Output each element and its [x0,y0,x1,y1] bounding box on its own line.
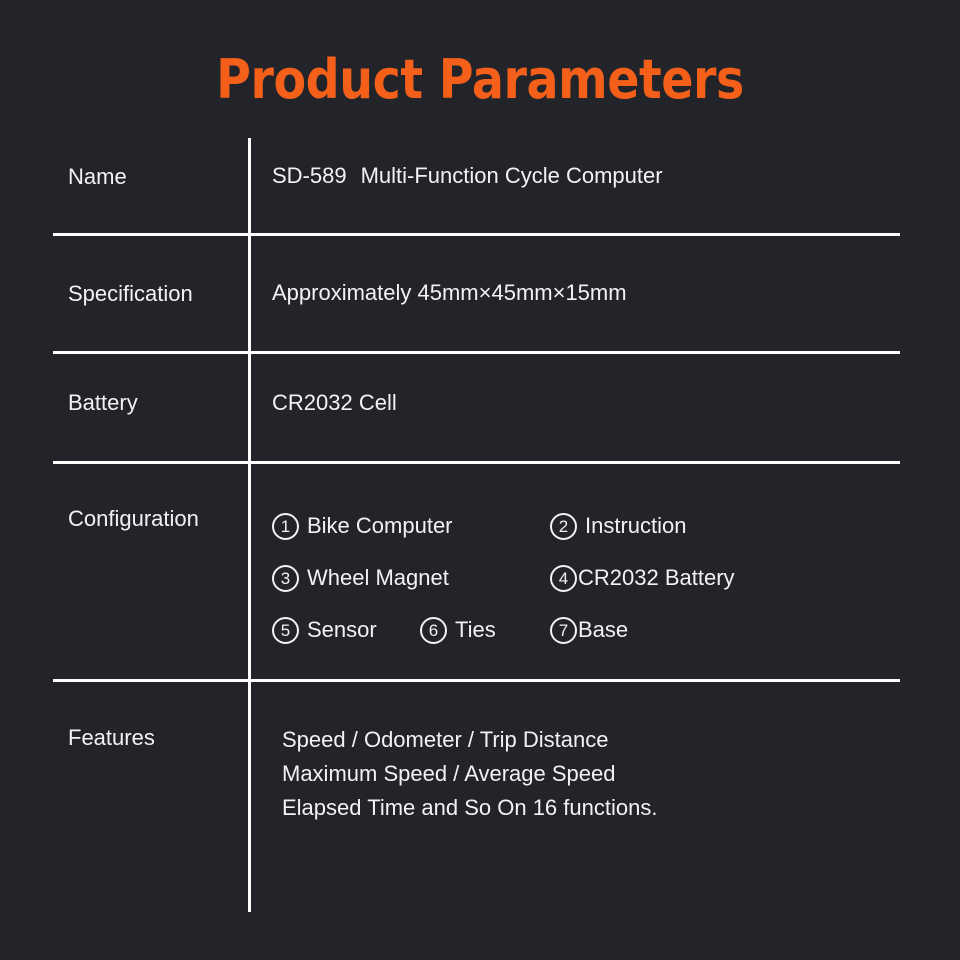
circled-number-icon: 2 [550,513,577,540]
configuration-item-label: Wheel Magnet [307,565,449,591]
configuration-list: 1 Bike Computer 2 Instruction 3 Wheel Ma… [272,500,892,656]
table-vertical-divider [248,138,251,912]
table-row-divider-4 [53,679,900,682]
configuration-item-label: Bike Computer [307,513,453,539]
table-row-divider-2 [53,351,900,354]
features-list: Speed / Odometer / Trip Distance Maximum… [282,723,657,825]
row-value-name: SD-589Multi-Function Cycle Computer [272,163,663,189]
configuration-item-3: 3 Wheel Magnet [272,565,550,592]
circled-number-icon: 4 [550,565,577,592]
product-parameters-panel: Product Parameters Name SD-589Multi-Func… [0,0,960,960]
row-value-specification: Approximately 45mm×45mm×15mm [272,280,627,306]
row-label-features: Features [68,725,155,751]
configuration-item-1: 1 Bike Computer [272,513,550,540]
circled-number-icon: 3 [272,565,299,592]
row-label-specification: Specification [68,281,193,307]
configuration-item-label: Ties [455,617,496,643]
configuration-item-label: Base [578,617,628,643]
table-row-divider-1 [53,233,900,236]
configuration-item-label: Sensor [307,617,377,643]
features-line: Elapsed Time and So On 16 functions. [282,791,657,825]
product-description: Multi-Function Cycle Computer [361,163,663,188]
configuration-item-4: 4 CR2032 Battery [550,565,735,592]
configuration-item-6: 6 Ties [420,617,550,644]
circled-number-icon: 1 [272,513,299,540]
row-value-battery: CR2032 Cell [272,390,397,416]
configuration-item-label: Instruction [585,513,687,539]
row-label-battery: Battery [68,390,138,416]
circled-number-icon: 7 [550,617,577,644]
row-label-name: Name [68,164,127,190]
row-label-configuration: Configuration [68,506,199,532]
circled-number-icon: 5 [272,617,299,644]
features-line: Speed / Odometer / Trip Distance [282,723,657,757]
configuration-row: 5 Sensor 6 Ties 7 Base [272,604,892,656]
configuration-item-5: 5 Sensor [272,617,420,644]
configuration-item-2: 2 Instruction [550,513,687,540]
configuration-row: 3 Wheel Magnet 4 CR2032 Battery [272,552,892,604]
configuration-item-7: 7 Base [550,617,628,644]
page-title: Product Parameters [58,48,903,111]
configuration-row: 1 Bike Computer 2 Instruction [272,500,892,552]
configuration-item-label: CR2032 Battery [578,565,735,591]
table-row-divider-3 [53,461,900,464]
features-line: Maximum Speed / Average Speed [282,757,657,791]
circled-number-icon: 6 [420,617,447,644]
product-model: SD-589 [272,163,347,188]
